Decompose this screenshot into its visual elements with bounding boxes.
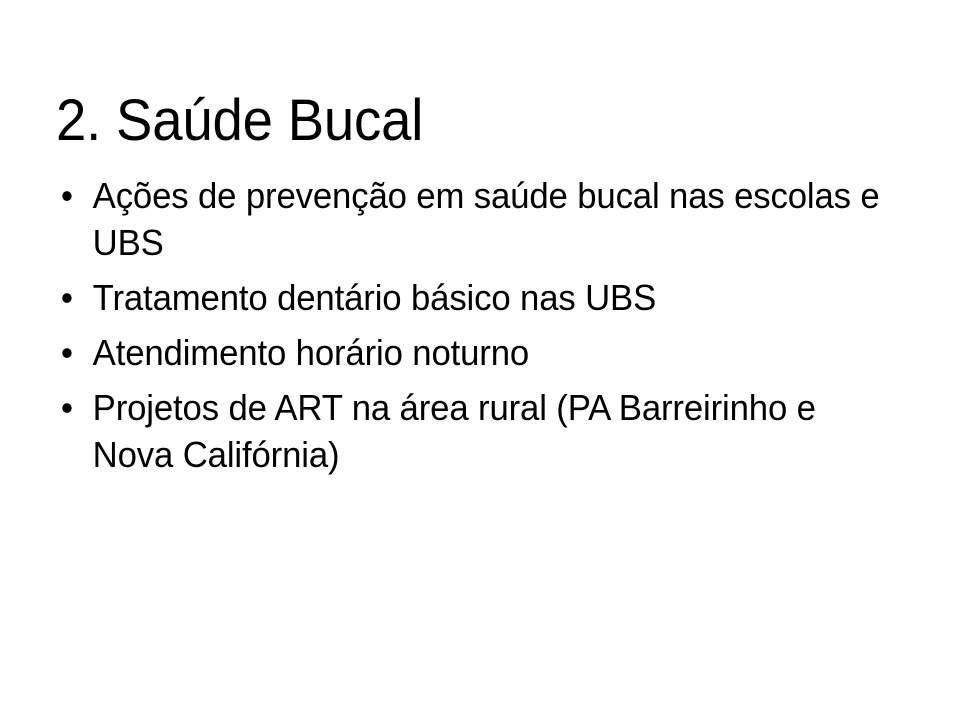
bullet-dot-icon: • [61,274,82,321]
bullet-item-2: • Tratamento dentário básico nas UBS [56,274,905,321]
bullet-dot-icon: • [61,329,82,376]
presentation-slide: 2. Saúde Bucal • Ações de prevenção em s… [0,0,960,720]
bullet-item-label: Atendimento horário noturno [93,329,906,376]
bullet-item-label: Projetos de ART na área rural (PA Barrei… [93,384,906,478]
slide-title: 2. Saúde Bucal [56,89,864,154]
bullet-dot-icon: • [61,384,82,431]
bullet-item-4: • Projetos de ART na área rural (PA Barr… [56,384,905,478]
bullet-item-3: • Atendimento horário noturno [56,329,905,376]
bullet-dot-icon: • [61,172,82,219]
bullet-item-label: Ações de prevenção em saúde bucal nas es… [93,172,906,266]
bullet-item-label: Tratamento dentário básico nas UBS [93,274,906,321]
bullet-item-1: • Ações de prevenção em saúde bucal nas … [56,172,905,266]
bullet-list: • Ações de prevenção em saúde bucal nas … [56,172,936,478]
